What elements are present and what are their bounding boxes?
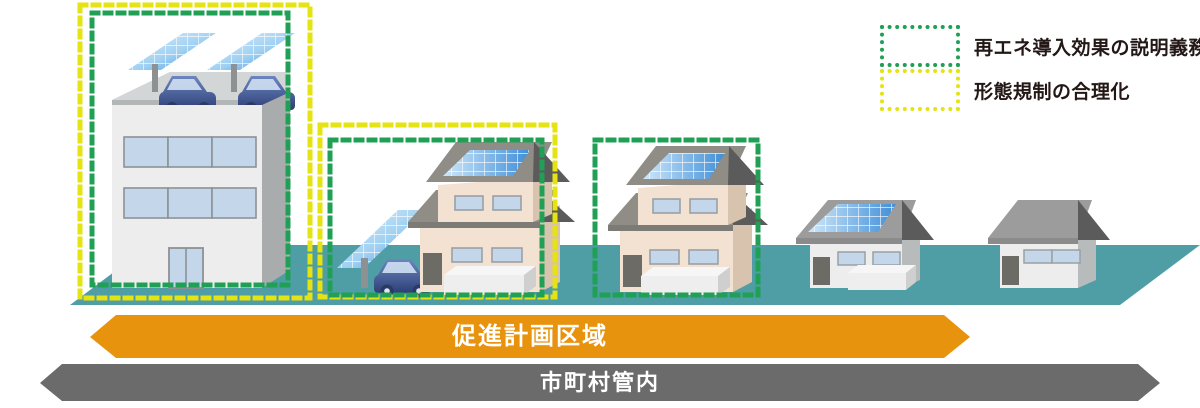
- legend-item-form-regulation: 形態規制の合理化: [880, 68, 1200, 112]
- window-row: [124, 137, 256, 167]
- small-house-with-rooftop-solar: [796, 200, 934, 290]
- entrance-door-icon: [169, 248, 203, 288]
- municipality-banner-label: 市町村管内: [40, 366, 1160, 400]
- house-with-rooftop-solar: [608, 146, 768, 295]
- legend-label-renewable-explanation: 再エネ導入効果の説明義務: [974, 33, 1200, 60]
- promotion-area-banner-label: 促進計画区域: [90, 318, 970, 356]
- illustration-root: 促進計画区域 市町村管内 再エネ導入効果の説明義務 形態規制の合理化: [0, 0, 1200, 408]
- yellow-dotted-box-icon: [880, 69, 960, 111]
- window-row: [124, 188, 256, 218]
- legend: 再エネ導入効果の説明義務 形態規制の合理化: [880, 24, 1200, 112]
- apartment-building-with-rooftop-solar-carports: [112, 33, 295, 288]
- green-dotted-box-icon: [880, 25, 960, 67]
- small-house-plain: [988, 200, 1110, 288]
- legend-item-renewable-explanation: 再エネ導入効果の説明義務: [880, 24, 1200, 68]
- legend-label-form-regulation: 形態規制の合理化: [974, 77, 1130, 104]
